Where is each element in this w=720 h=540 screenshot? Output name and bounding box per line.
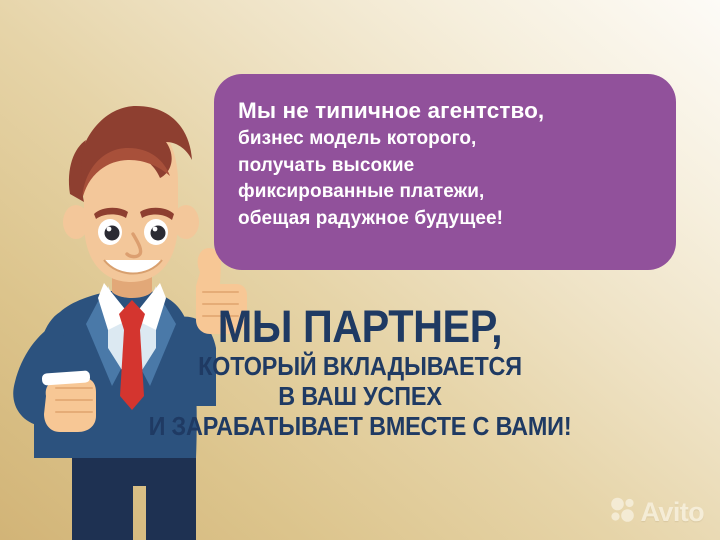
bubble-line-5: обещая радужное будущее! [238,206,652,233]
speech-bubble: Мы не типичное агентство, бизнес модель … [214,74,676,270]
avito-watermark: Avito [610,497,705,528]
avito-wordmark: Avito [641,497,705,528]
bubble-line-1: Мы не типичное агентство, [238,96,652,126]
bubble-line-4: фиксированные платежи, [238,179,652,206]
bubble-line-2: бизнес модель которого, [238,126,652,153]
headline-line-4: И ЗАРАБАТЫВАЕТ ВМЕСТЕ С ВАМИ! [36,411,684,441]
promo-poster: Мы не типичное агентство, бизнес модель … [0,0,720,540]
avito-dots-icon [610,497,636,528]
headline-line-1: МЫ ПАРТНЕР, [29,303,691,351]
bubble-line-3: получать высокие [238,153,652,180]
headline-line-3: В ВАШ УСПЕХ [36,381,684,411]
headline-line-2: КОТОРЫЙ ВКЛАДЫВАЕТСЯ [36,351,684,381]
headline-block: МЫ ПАРТНЕР, КОТОРЫЙ ВКЛАДЫВАЕТСЯ В ВАШ У… [0,303,720,441]
